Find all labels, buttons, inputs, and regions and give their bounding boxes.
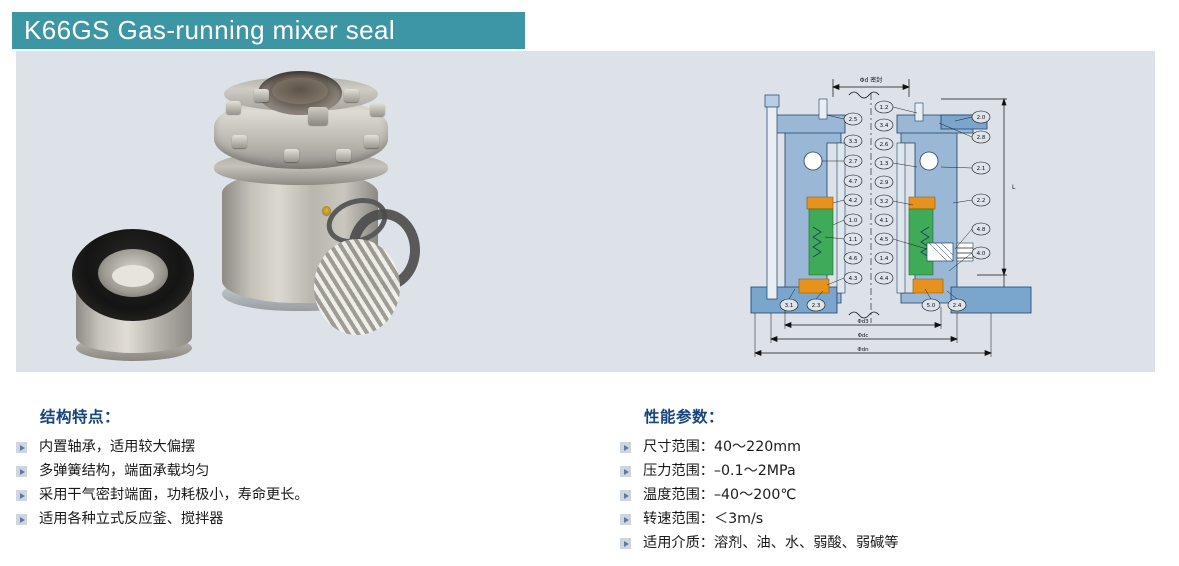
photo-seal-ring-bore bbox=[112, 265, 154, 287]
svg-text:4.5: 4.5 bbox=[880, 237, 889, 243]
photo-wire-coil-striped bbox=[314, 239, 400, 335]
svg-text:Φd3: Φd3 bbox=[857, 319, 869, 325]
svg-text:1.4: 1.4 bbox=[880, 256, 889, 262]
product-spec-page: K66GS Gas-running mixer seal bbox=[0, 0, 1179, 566]
photo-hub-bore bbox=[272, 78, 328, 104]
list-item: 采用干气密封端面，功耗极小，寿命更长。 bbox=[14, 485, 574, 506]
svg-text:4.4: 4.4 bbox=[880, 276, 889, 282]
bullet-arrow-icon bbox=[620, 538, 631, 549]
svg-text:2.1: 2.1 bbox=[977, 166, 986, 172]
photo-bolt bbox=[254, 89, 269, 102]
photo-bolt bbox=[232, 135, 247, 148]
list-item: 适用介质：溶剂、油、水、弱酸、弱碱等 bbox=[618, 533, 1163, 554]
structure-item-text: 适用各种立式反应釜、搅拌器 bbox=[39, 510, 223, 529]
list-item: 压力范围：–0.1～2MPa bbox=[618, 461, 1163, 482]
svg-text:Φdn: Φdn bbox=[857, 347, 869, 353]
bullet-arrow-icon bbox=[16, 514, 27, 525]
performance-item-text: 压力范围：–0.1～2MPa bbox=[643, 462, 796, 481]
svg-text:4.3: 4.3 bbox=[849, 276, 858, 282]
product-title-bar: K66GS Gas-running mixer seal bbox=[12, 12, 525, 49]
svg-text:2.8: 2.8 bbox=[977, 135, 986, 141]
page-title: K66GS Gas-running mixer seal bbox=[12, 15, 395, 46]
bullet-arrow-icon bbox=[620, 490, 631, 501]
structure-item-text: 采用干气密封端面，功耗极小，寿命更长。 bbox=[39, 486, 309, 505]
svg-text:3.1: 3.1 bbox=[785, 303, 794, 309]
svg-text:2.0: 2.0 bbox=[977, 115, 986, 121]
bullet-arrow-icon bbox=[16, 466, 27, 477]
svg-text:2.3: 2.3 bbox=[812, 303, 821, 309]
structure-column: 结构特点： 内置轴承，适用较大偏摆 多弹簧结构，端面承载均匀 采用干气密封端面，… bbox=[14, 372, 574, 533]
list-item: 多弹簧结构，端面承载均匀 bbox=[14, 461, 574, 482]
svg-text:2.6: 2.6 bbox=[880, 142, 889, 148]
svg-text:2.7: 2.7 bbox=[849, 159, 858, 165]
bullet-arrow-icon bbox=[16, 442, 27, 453]
photo-bolt bbox=[336, 149, 351, 162]
svg-text:4.7: 4.7 bbox=[849, 179, 858, 185]
list-item: 尺寸范围：40～220mm bbox=[618, 437, 1163, 458]
svg-text:1.3: 1.3 bbox=[880, 161, 889, 167]
performance-item-text: 适用介质：溶剂、油、水、弱酸、弱碱等 bbox=[643, 534, 898, 553]
svg-text:1.2: 1.2 bbox=[880, 105, 889, 111]
technical-drawing: Φd 密封 L L1 bbox=[741, 57, 1041, 367]
photo-bolt bbox=[226, 101, 241, 114]
product-photo-scene bbox=[26, 53, 426, 371]
svg-text:Φdc: Φdc bbox=[858, 333, 869, 339]
performance-column: 性能参数： 尺寸范围：40～220mm 压力范围：–0.1～2MPa 温度范围：… bbox=[618, 372, 1163, 557]
photo-bolt bbox=[284, 149, 299, 162]
product-photo bbox=[26, 53, 426, 371]
svg-text:1.1: 1.1 bbox=[849, 237, 858, 243]
photo-bolt bbox=[364, 135, 379, 148]
svg-text:5.0: 5.0 bbox=[927, 303, 936, 309]
list-item: 转速范围：＜3m/s bbox=[618, 509, 1163, 530]
technical-drawing-svg: Φd 密封 L L1 bbox=[741, 57, 1041, 367]
svg-text:4.6: 4.6 bbox=[849, 256, 858, 262]
structure-heading: 结构特点： bbox=[40, 405, 574, 427]
svg-text:2.2: 2.2 bbox=[977, 198, 986, 204]
svg-text:3.4: 3.4 bbox=[880, 123, 889, 129]
photo-bolt bbox=[344, 89, 359, 102]
svg-text:4.0: 4.0 bbox=[977, 251, 986, 257]
svg-text:4.8: 4.8 bbox=[977, 227, 986, 233]
svg-text:3.2: 3.2 bbox=[880, 199, 889, 205]
svg-text:1.0: 1.0 bbox=[849, 218, 858, 224]
svg-text:2.5: 2.5 bbox=[849, 117, 858, 123]
structure-list: 内置轴承，适用较大偏摆 多弹簧结构，端面承载均匀 采用干气密封端面，功耗极小，寿… bbox=[14, 437, 574, 530]
bullet-arrow-icon bbox=[620, 514, 631, 525]
list-item: 内置轴承，适用较大偏摆 bbox=[14, 437, 574, 458]
svg-text:Φd 密封: Φd 密封 bbox=[860, 76, 882, 84]
performance-item-text: 温度范围：–40～200℃ bbox=[643, 486, 796, 505]
svg-text:4.2: 4.2 bbox=[849, 198, 858, 204]
performance-item-text: 尺寸范围：40～220mm bbox=[643, 438, 801, 457]
svg-text:4.1: 4.1 bbox=[880, 218, 889, 224]
list-item: 适用各种立式反应釜、搅拌器 bbox=[14, 509, 574, 530]
svg-text:L: L bbox=[1012, 184, 1016, 191]
structure-item-text: 多弹簧结构，端面承载均匀 bbox=[39, 462, 209, 481]
bullet-arrow-icon bbox=[16, 490, 27, 501]
photo-center-nut bbox=[308, 107, 328, 125]
structure-item-text: 内置轴承，适用较大偏摆 bbox=[39, 438, 195, 457]
bullet-arrow-icon bbox=[620, 442, 631, 453]
svg-text:2.9: 2.9 bbox=[880, 180, 889, 186]
svg-text:2.4: 2.4 bbox=[953, 303, 962, 309]
performance-item-text: 转速范围：＜3m/s bbox=[643, 510, 763, 529]
performance-heading: 性能参数： bbox=[644, 405, 1163, 427]
photo-bolt bbox=[370, 103, 385, 116]
list-item: 温度范围：–40～200℃ bbox=[618, 485, 1163, 506]
bullet-arrow-icon bbox=[620, 466, 631, 477]
svg-text:3.3: 3.3 bbox=[849, 139, 858, 145]
performance-list: 尺寸范围：40～220mm 压力范围：–0.1～2MPa 温度范围：–40～20… bbox=[618, 437, 1163, 554]
spec-content: 结构特点： 内置轴承，适用较大偏摆 多弹簧结构，端面承载均匀 采用干气密封端面，… bbox=[0, 372, 1179, 566]
media-panel: Φd 密封 L L1 bbox=[16, 51, 1155, 372]
